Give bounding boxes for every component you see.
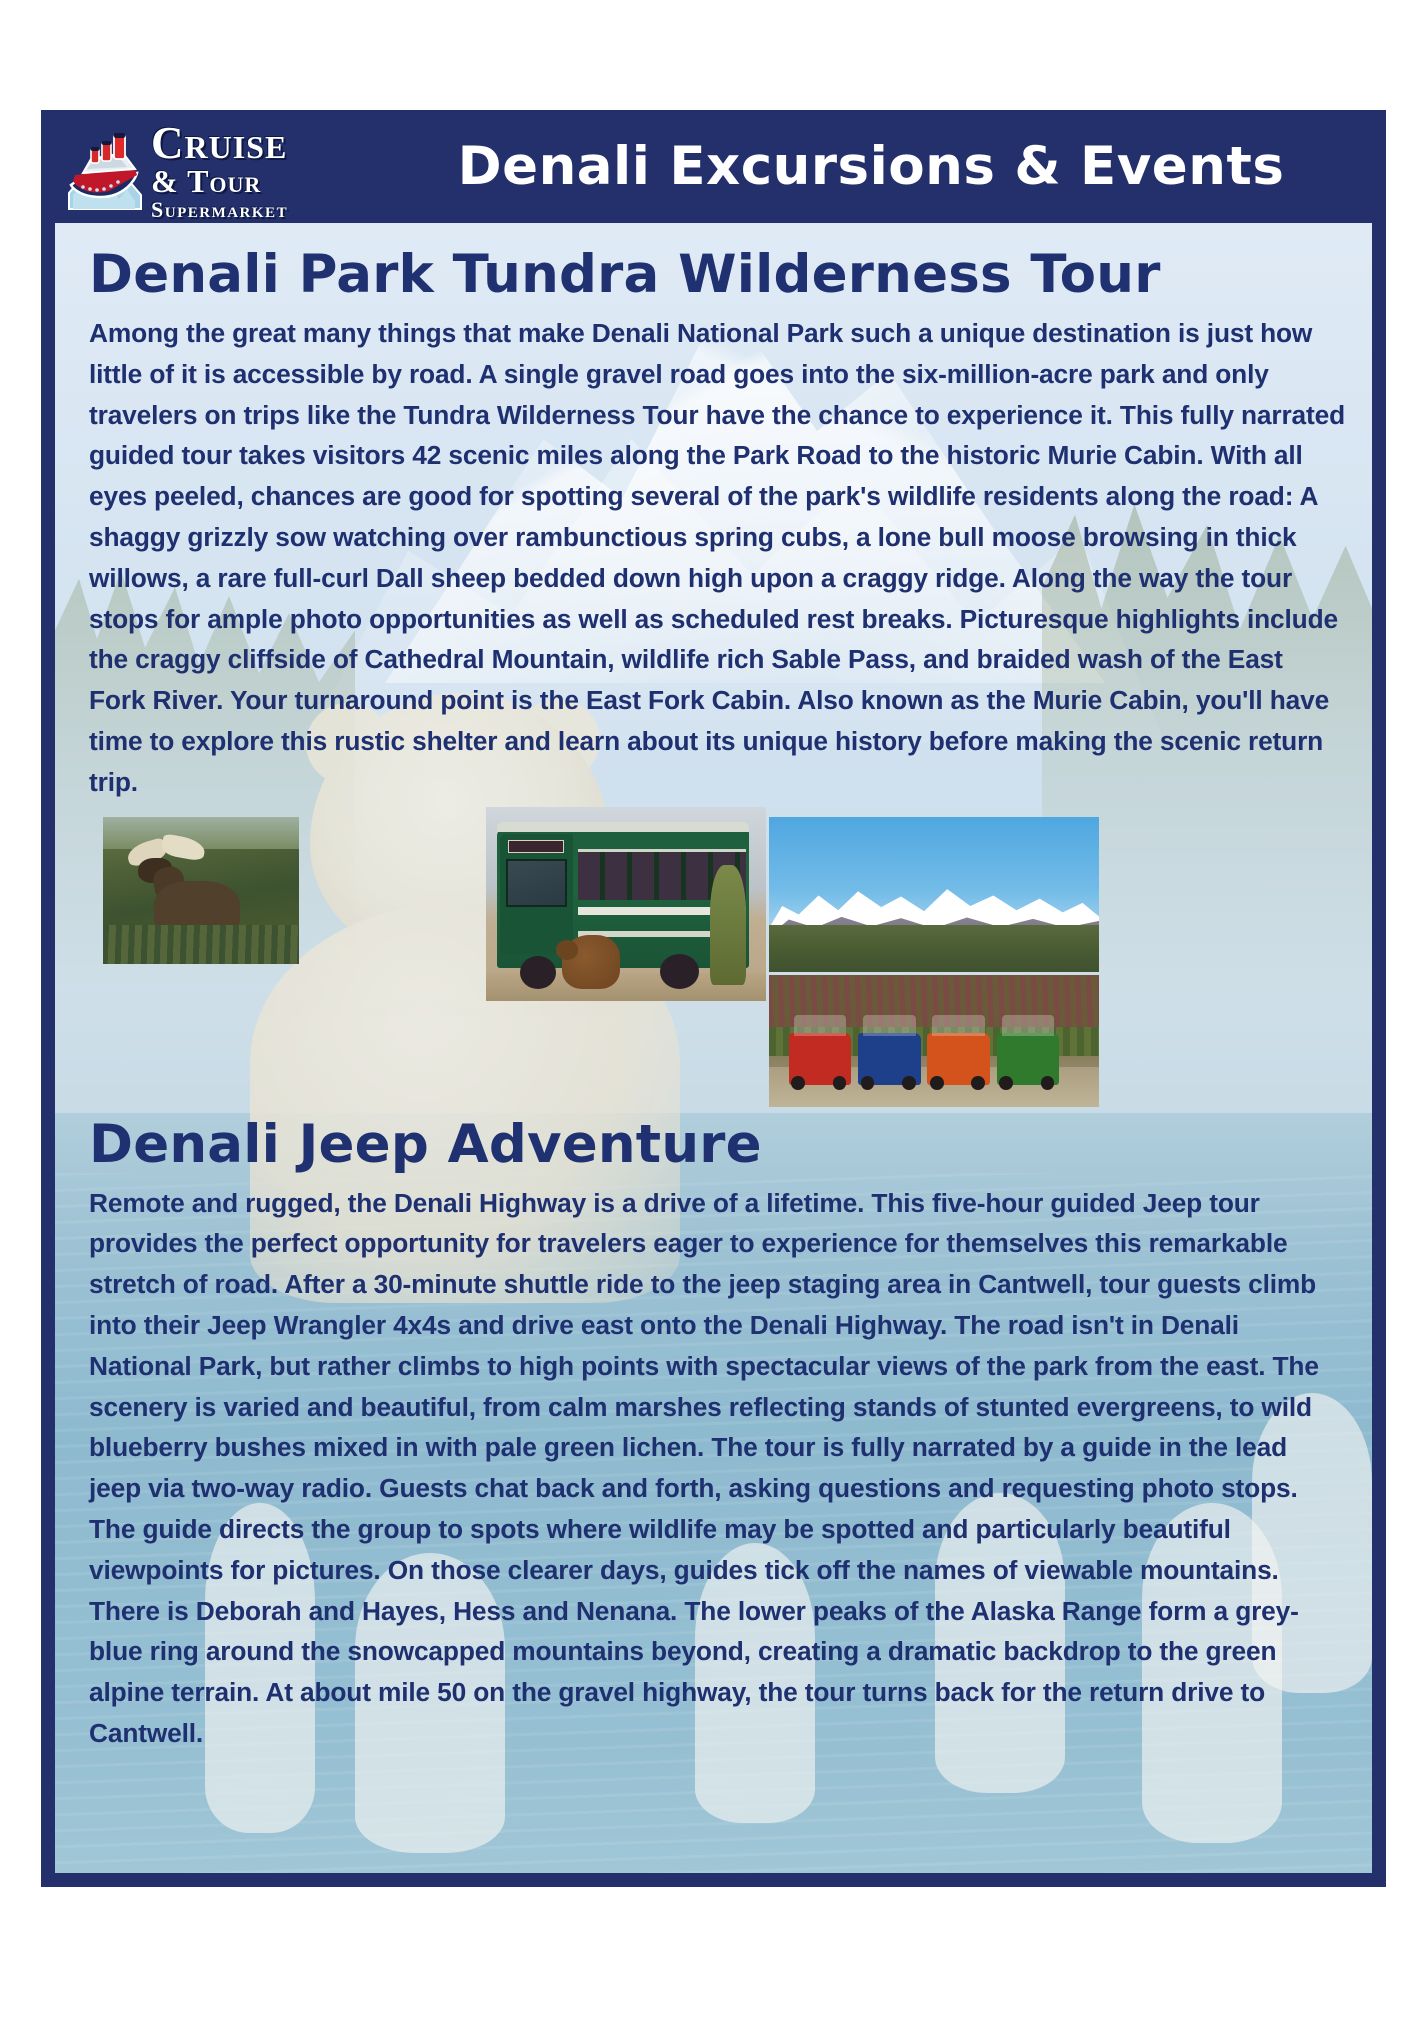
flyer-frame: Cruise & Tour Supermarket Denali Excursi… <box>41 110 1386 1887</box>
section-title-tundra-wilderness-tour: Denali Park Tundra Wilderness Tour <box>89 243 1346 307</box>
flyer-page: Cruise & Tour Supermarket Denali Excursi… <box>0 0 1428 2028</box>
photo-collage <box>81 807 1346 1107</box>
section-body-tundra-wilderness-tour: Among the great many things that make De… <box>89 313 1346 803</box>
brand-line-tour: & Tour <box>151 165 361 197</box>
cruise-ship-icon <box>61 123 153 219</box>
brand-line-cruise: Cruise <box>151 121 361 165</box>
page-title: Denali Excursions & Events <box>371 110 1371 223</box>
section-title-jeep-adventure: Denali Jeep Adventure <box>89 1113 1346 1177</box>
brand-line-supermarket: Supermarket <box>151 198 361 222</box>
tour-bus-photo <box>486 807 766 1001</box>
moose-photo <box>103 817 299 964</box>
jeeps-photo <box>769 975 1099 1107</box>
mountains-photo <box>769 817 1099 972</box>
content-panel: Denali Park Tundra Wilderness Tour Among… <box>55 223 1372 1873</box>
header-bar: Cruise & Tour Supermarket Denali Excursi… <box>41 110 1386 223</box>
section-body-jeep-adventure: Remote and rugged, the Denali Highway is… <box>89 1183 1346 1754</box>
brand-logo[interactable]: Cruise & Tour Supermarket <box>55 115 355 220</box>
article-body: Denali Park Tundra Wilderness Tour Among… <box>55 223 1372 1754</box>
brand-wordmark: Cruise & Tour Supermarket <box>151 121 361 222</box>
